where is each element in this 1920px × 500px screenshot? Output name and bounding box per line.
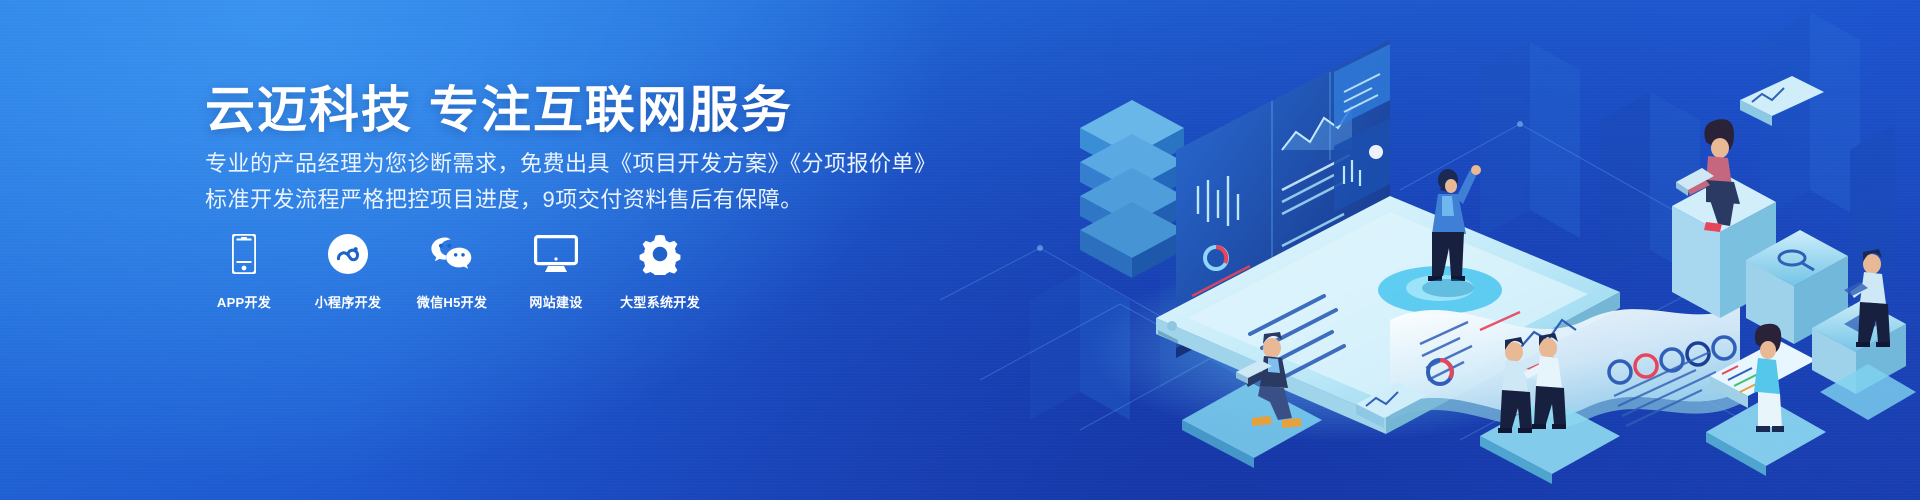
service-list: APP开发 小程序开发: [205, 232, 699, 311]
service-label-wechat: 微信H5开发: [417, 292, 487, 311]
gear-icon: [638, 232, 682, 276]
banner-headline: 云迈科技 专注互联网服务: [205, 70, 793, 142]
service-label-app: APP开发: [217, 292, 271, 311]
raised-arm: [1456, 170, 1477, 204]
server-stack: [1080, 100, 1184, 278]
service-label-system: 大型系统开发: [620, 292, 700, 311]
banner-subline-2: 标准开发流程严格把控项目进度，9项交付资料售后有保障。: [205, 182, 803, 214]
service-label-miniprogram: 小程序开发: [315, 292, 382, 311]
monitor-icon: [534, 232, 578, 276]
service-item-website[interactable]: 网站建设: [517, 232, 595, 311]
banner-subline-1: 专业的产品经理为您诊断需求，免费出具《项目开发方案》《分项报价单》: [205, 146, 937, 178]
service-item-miniprogram[interactable]: 小程序开发: [309, 232, 387, 311]
mini-program-icon: [326, 232, 370, 276]
service-item-app[interactable]: APP开发: [205, 232, 283, 311]
hero-banner: 云迈科技 专注互联网服务 专业的产品经理为您诊断需求，免费出具《项目开发方案》《…: [0, 0, 1920, 500]
isometric-tech-team-illustration: [920, 0, 1920, 500]
service-item-system[interactable]: 大型系统开发: [621, 232, 699, 311]
service-item-wechat[interactable]: 微信H5开发: [413, 232, 491, 311]
service-label-website: 网站建设: [529, 292, 582, 311]
mobile-phone-icon: [222, 232, 266, 276]
wechat-icon: [430, 232, 474, 276]
banner-content: 云迈科技 专注互联网服务 专业的产品经理为您诊断需求，免费出具《项目开发方案》《…: [205, 0, 965, 500]
